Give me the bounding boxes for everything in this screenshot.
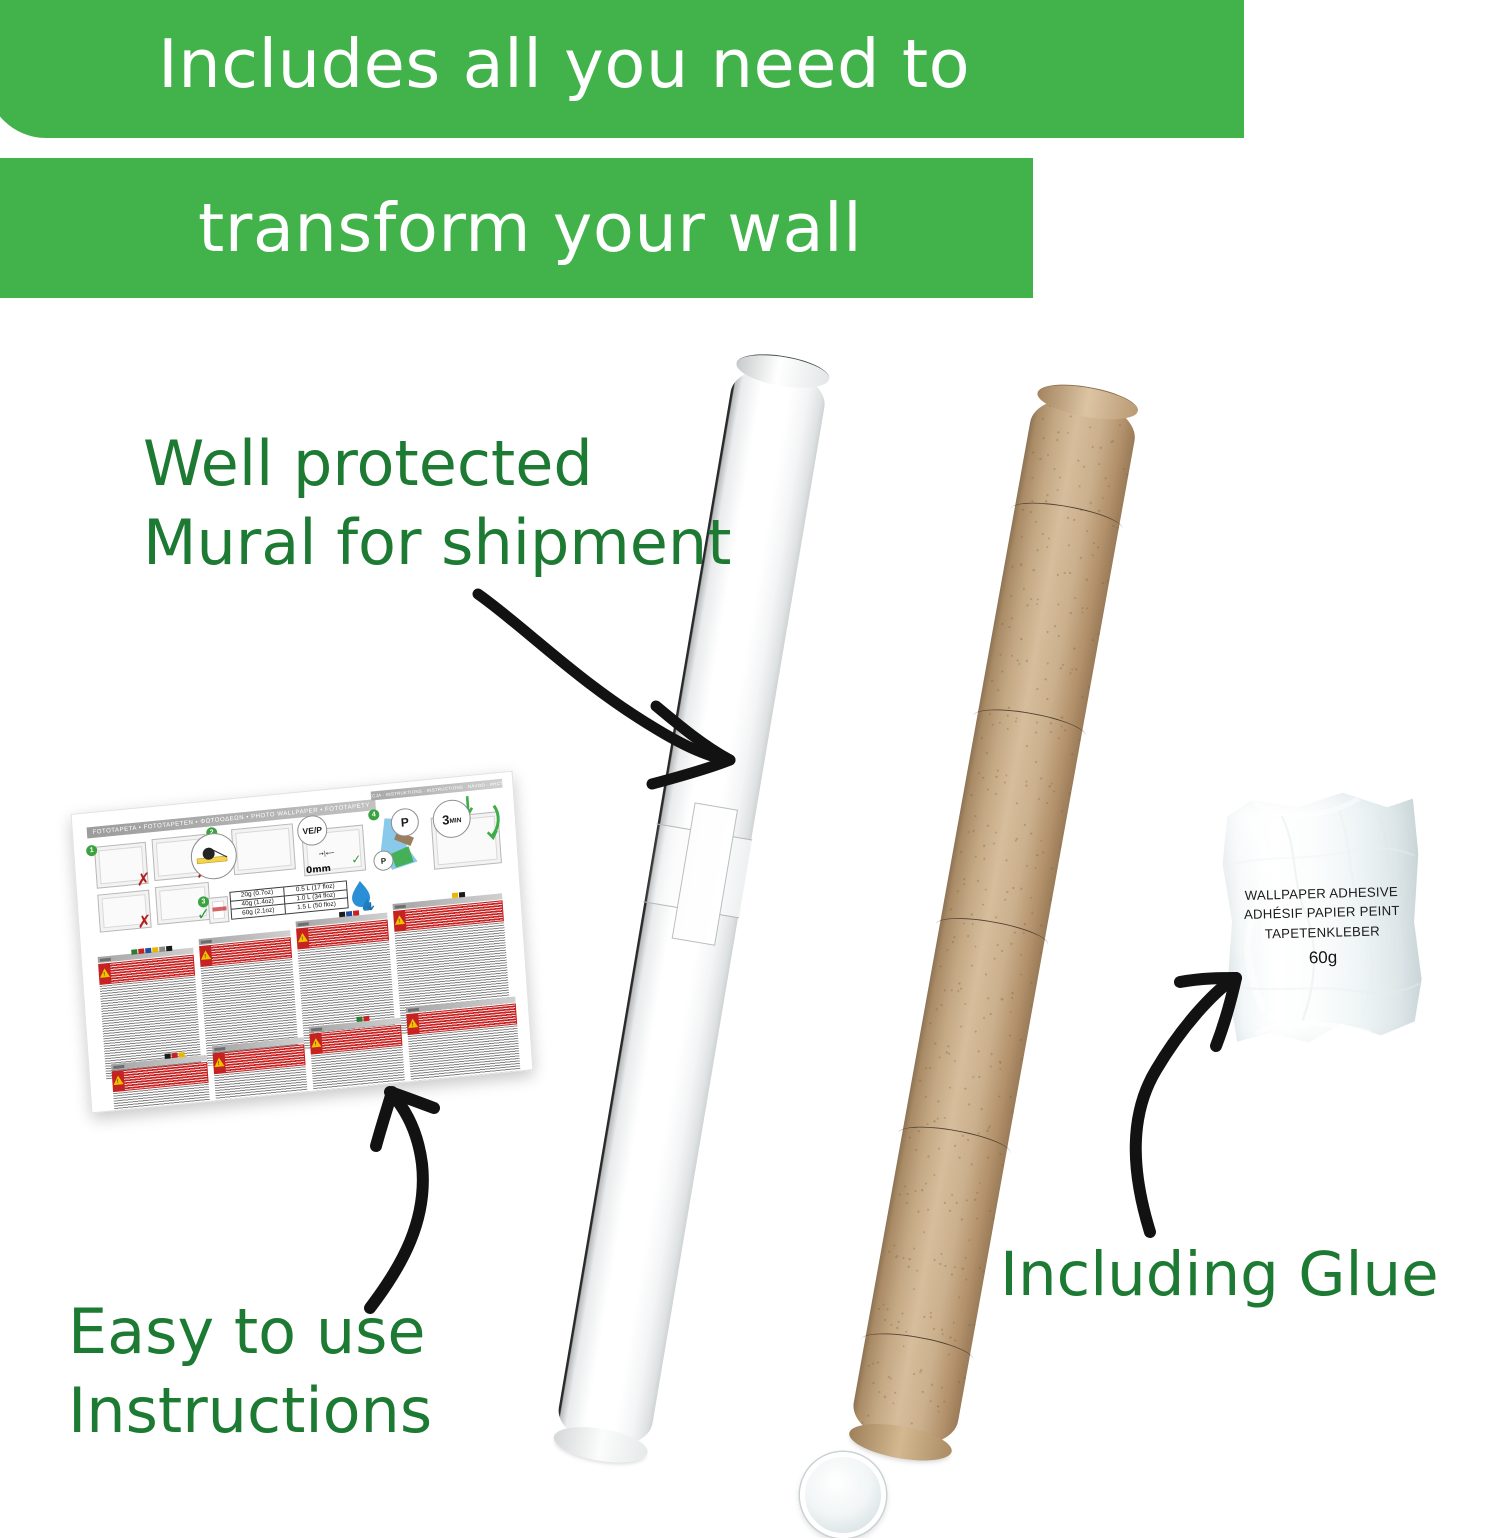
instruction-sheet-page: FOTOTAPETA • FOTOTAPETEN • ΦΩΤΟΟΔΕΩΝ • P… <box>80 781 524 1104</box>
mark-right: ✓ <box>196 906 210 923</box>
headline-text-line2: transform your wall <box>198 189 862 267</box>
tube-end-cap <box>800 1452 886 1538</box>
mark-wrong: ✗ <box>137 914 152 932</box>
white-tube-label-band <box>643 823 752 918</box>
body-text-block <box>408 1025 522 1098</box>
water-drop-icon <box>349 878 375 912</box>
step2-magnifier-circle <box>189 831 238 881</box>
annotation-including-glue: Including Glue <box>1000 1236 1439 1314</box>
arrow-to-instructions <box>330 1060 570 1320</box>
mark-right: ✓ <box>351 853 362 866</box>
language-column <box>406 996 522 1098</box>
infographic-canvas: Includes all you need to transform your … <box>0 0 1500 1500</box>
dosage-table: 20g (0.7oz) 0.5 L (17 floz) 40g (1.4oz) … <box>229 880 348 919</box>
language-column <box>212 1037 309 1113</box>
headline-banner-line1: Includes all you need to <box>0 0 1244 138</box>
annotation-easy-to-use-instructions: Easy to use Instructions <box>68 1292 432 1451</box>
language-column <box>309 1018 407 1114</box>
badge-zero-mm: 0mm <box>306 864 332 876</box>
annotation-well-protected-mural: Well protected Mural for shipment <box>143 424 732 583</box>
body-text-block <box>214 1066 309 1113</box>
headline-banner-line2: transform your wall <box>0 158 1033 298</box>
headline-text-line1: Includes all you need to <box>158 25 970 103</box>
badge-minutes-unit: MIN <box>449 812 462 824</box>
instruction-sheet: FOTOTAPETA • FOTOTAPETEN • ΦΩΤΟΟΔΕΩΝ • P… <box>71 771 534 1114</box>
glue-sachet-label: WALLPAPER ADHESIVE ADHÉSIF PAPIER PEINT … <box>1221 881 1422 944</box>
mark-wrong: ✗ <box>136 871 151 889</box>
glue-bag-thumbnail <box>208 896 230 924</box>
step2-panel <box>231 823 296 875</box>
language-column <box>111 1055 212 1114</box>
glue-sachet: WALLPAPER ADHESIVE ADHÉSIF PAPIER PEINT … <box>1219 785 1426 1052</box>
body-text-block <box>311 1047 407 1114</box>
tape-measure-icon <box>191 833 236 879</box>
